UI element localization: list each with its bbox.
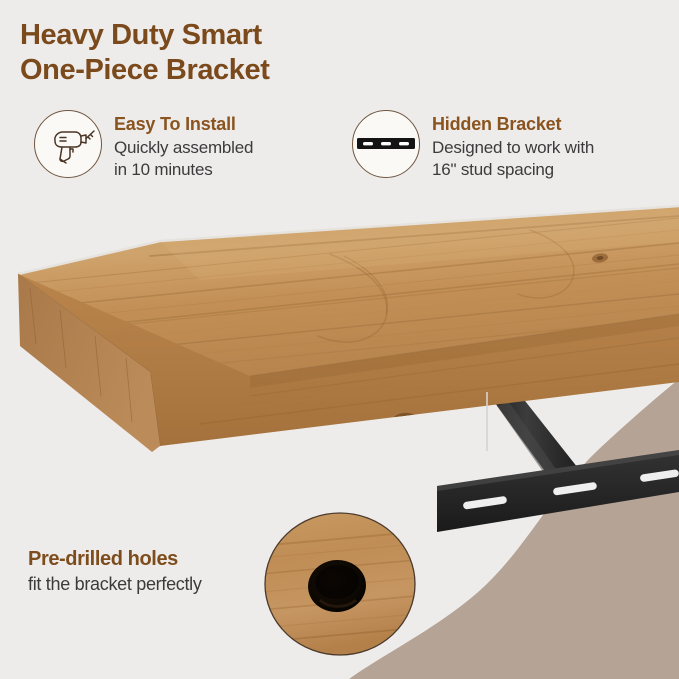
page-title: Heavy Duty Smart One-Piece Bracket — [20, 18, 440, 89]
feature-hidden-bracket: Hidden Bracket Designed to work with 16"… — [352, 110, 594, 181]
feature-body-line-2: in 10 minutes — [114, 159, 253, 181]
shelf-front-edge — [18, 274, 679, 446]
feature-body: Quickly assembled in 10 minutes — [114, 137, 253, 181]
pre-drilled-hole-zoom — [264, 512, 416, 656]
feature-text: Hidden Bracket Designed to work with 16"… — [432, 110, 594, 181]
shelf-top-face — [18, 206, 679, 376]
feature-easy-to-install: Easy To Install Quickly assembled in 10 … — [34, 110, 253, 181]
headline-line-2: One-Piece Bracket — [20, 53, 440, 88]
product-photo — [0, 196, 679, 556]
product-infographic: Heavy Duty Smart One-Piece Bracket — [0, 0, 679, 679]
feature-title: Hidden Bracket — [432, 114, 594, 135]
headline-line-1: Heavy Duty Smart — [20, 18, 440, 53]
drill-icon — [34, 110, 102, 178]
caption-title: Pre-drilled holes — [28, 548, 268, 571]
feature-text: Easy To Install Quickly assembled in 10 … — [114, 110, 253, 181]
black-steel-bracket-bar — [437, 450, 679, 532]
feature-body-line-1: Quickly assembled — [114, 137, 253, 159]
caption-pre-drilled-holes: Pre-drilled holes fit the bracket perfec… — [28, 548, 268, 595]
feature-title: Easy To Install — [114, 114, 253, 135]
feature-body-line-1: Designed to work with — [432, 137, 594, 159]
feature-body-line-2: 16" stud spacing — [432, 159, 594, 181]
flat-bracket-icon — [352, 110, 420, 178]
bracket-support-rod — [486, 388, 600, 501]
shelf-end-grain-face — [18, 274, 160, 452]
caption-body: fit the bracket perfectly — [28, 574, 268, 595]
feature-body: Designed to work with 16" stud spacing — [432, 137, 594, 181]
